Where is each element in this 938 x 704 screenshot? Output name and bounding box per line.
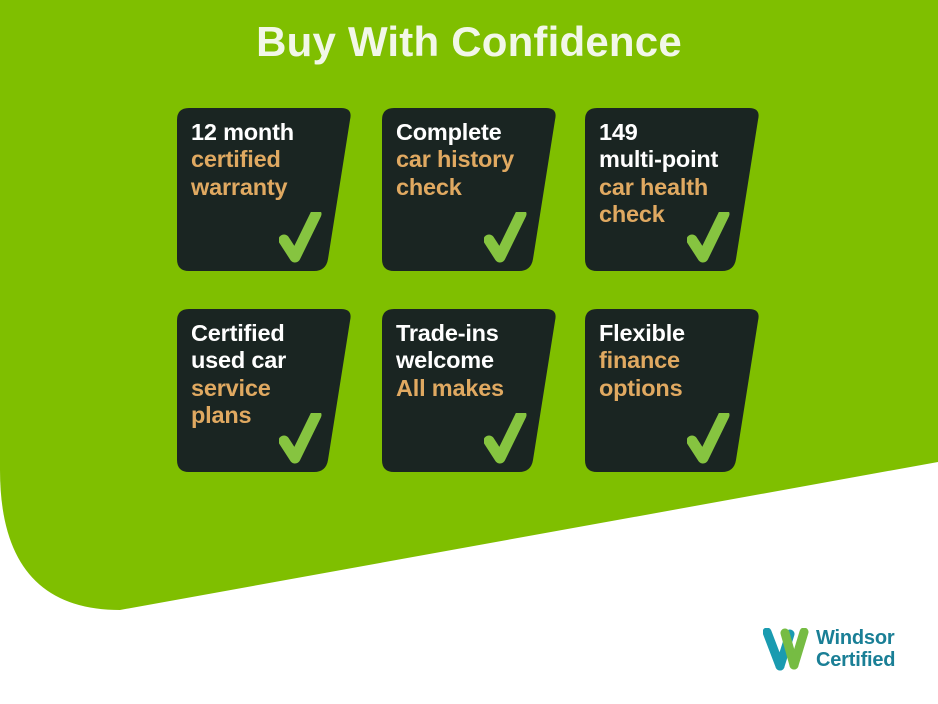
benefit-card-grid: 12 month certified warranty Com [177, 108, 761, 510]
card-text-block: Complete car history check [396, 119, 544, 201]
card-line: car history [396, 146, 544, 173]
card-line: Flexible [599, 320, 747, 347]
check-icon [279, 212, 323, 264]
benefit-card-complete-car-history-check[interactable]: Complete car history check [382, 108, 558, 271]
card-text-block: 12 month certified warranty [191, 119, 339, 201]
card-line: options [599, 375, 747, 402]
check-icon [484, 212, 528, 264]
card-line: car health [599, 174, 747, 201]
card-line: certified [191, 146, 339, 173]
check-icon [687, 212, 731, 264]
benefit-card-149-multi-point-car-health-check[interactable]: 149 multi-point car health check [585, 108, 761, 271]
benefit-card-flexible-finance-options[interactable]: Flexible finance options [585, 309, 761, 472]
card-line: check [396, 174, 544, 201]
windsor-certified-logo[interactable]: Windsor Certified [763, 628, 895, 672]
check-icon [687, 413, 731, 465]
card-line: Trade-ins [396, 320, 544, 347]
card-line: Certified [191, 320, 339, 347]
card-line: 12 month [191, 119, 339, 146]
windsor-w-icon [763, 628, 809, 672]
benefit-card-certified-used-car-service-plans[interactable]: Certified used car service plans [177, 309, 353, 472]
logo-line-windsor: Windsor [816, 628, 895, 650]
benefit-card-row-2: Certified used car service plans [177, 309, 761, 472]
card-line: finance [599, 347, 747, 374]
check-icon [484, 413, 528, 465]
benefit-card-12-month-certified-warranty[interactable]: 12 month certified warranty [177, 108, 353, 271]
logo-line-certified: Certified [816, 650, 895, 672]
page-title: Buy With Confidence [0, 18, 938, 66]
card-line: Complete [396, 119, 544, 146]
card-line: All makes [396, 375, 544, 402]
card-line: service [191, 375, 339, 402]
logo-wordmark: Windsor Certified [816, 628, 895, 671]
benefit-card-trade-ins-welcome-all-makes[interactable]: Trade-ins welcome All makes [382, 309, 558, 472]
card-line: used car [191, 347, 339, 374]
check-icon [279, 413, 323, 465]
card-line: welcome [396, 347, 544, 374]
benefit-card-row-1: 12 month certified warranty Com [177, 108, 761, 271]
card-line: multi-point [599, 146, 747, 173]
poster-canvas: Buy With Confidence 12 month certified w… [0, 0, 938, 704]
card-text-block: Trade-ins welcome All makes [396, 320, 544, 402]
card-text-block: Flexible finance options [599, 320, 747, 402]
card-line: 149 [599, 119, 747, 146]
card-line: warranty [191, 174, 339, 201]
